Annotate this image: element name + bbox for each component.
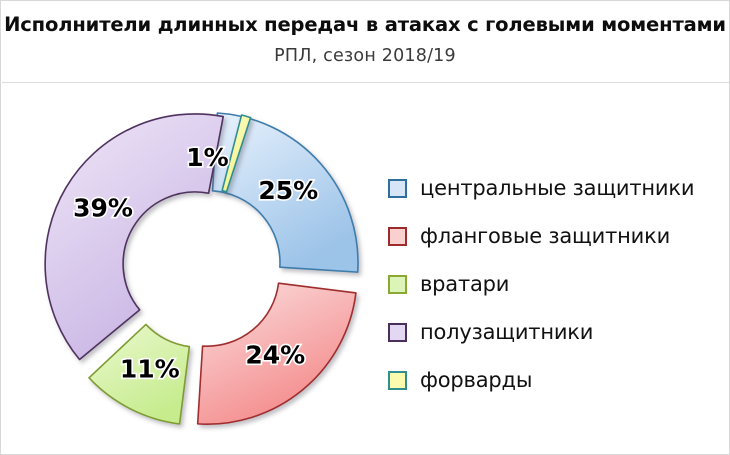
chart-subtitle: РПЛ, сезон 2018/19 bbox=[1, 46, 729, 66]
chart-card: Исполнители длинных передач в атаках с г… bbox=[0, 0, 730, 455]
legend-item-5[interactable]: форварды bbox=[388, 363, 718, 411]
slice-value-label: 1% bbox=[186, 143, 228, 172]
legend-item-label: центральные защитники bbox=[420, 171, 694, 205]
legend-item-1[interactable]: центральные защитники bbox=[388, 171, 718, 219]
legend-item-label: форварды bbox=[420, 363, 532, 397]
legend-item-4[interactable]: полузащитники bbox=[388, 315, 718, 363]
chart-title: Исполнители длинных передач в атаках с г… bbox=[1, 13, 729, 36]
legend-item-2[interactable]: фланговые защитники bbox=[388, 219, 718, 267]
slice-value-label: 11% bbox=[120, 354, 180, 383]
legend-color-swatch bbox=[388, 179, 407, 198]
legend-item-label: фланговые защитники bbox=[420, 219, 670, 253]
chart-legend: центральные защитникифланговые защитники… bbox=[388, 171, 718, 411]
chart-header: Исполнители длинных передач в атаках с г… bbox=[1, 1, 729, 81]
slice-value-label: 39% bbox=[73, 193, 133, 222]
legend-item-3[interactable]: вратари bbox=[388, 267, 718, 315]
slice-value-label: 24% bbox=[245, 341, 305, 370]
legend-color-swatch bbox=[388, 275, 407, 294]
legend-color-swatch bbox=[388, 323, 407, 342]
slice-value-label: 25% bbox=[258, 176, 318, 205]
legend-color-swatch bbox=[388, 371, 407, 390]
legend-item-label: полузащитники bbox=[420, 315, 593, 349]
donut-chart: 25%24%11%39%1% bbox=[22, 93, 392, 453]
legend-item-label: вратари bbox=[420, 267, 509, 301]
chart-plot-area: 25%24%11%39%1% центральные защитникифлан… bbox=[2, 83, 729, 454]
legend-color-swatch bbox=[388, 227, 407, 246]
